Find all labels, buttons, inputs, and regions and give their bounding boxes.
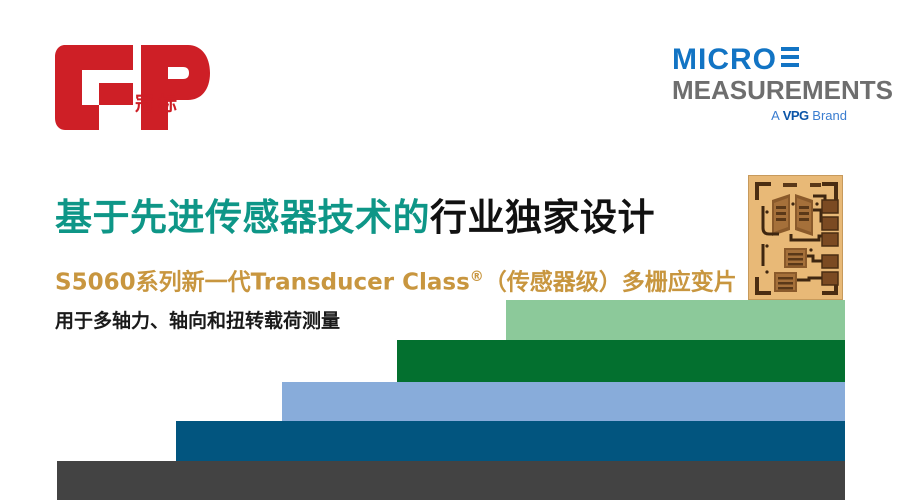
slide-canvas: 冠标 MICRO MEASUREMENTS A VPG Brand 基于先进传感… <box>0 0 900 500</box>
mm-logo-measurements-rest: EASUREMENTS <box>694 75 893 105</box>
strain-gauge-product-photo <box>748 175 843 300</box>
mm-logo-tagline-a: A <box>771 108 779 123</box>
mm-logo-bars-icon <box>781 47 799 71</box>
gp-logo: 冠标 <box>55 45 210 130</box>
bar-light-green <box>506 300 845 340</box>
mm-logo-tagline-brand: Brand <box>812 108 847 123</box>
mm-logo-vpg-tagline: A VPG Brand <box>672 109 847 123</box>
bar-light-blue <box>282 382 845 421</box>
tagline: 用于多轴力、轴向和扭转载荷测量 <box>55 308 340 334</box>
subtitle: S5060系列新一代Transducer Class®（传感器级）多栅应变片 <box>55 262 737 298</box>
mm-logo-tagline-vpg: VPG <box>783 108 809 123</box>
headline-teal-part: 基于先进传感器技术的 <box>55 196 430 239</box>
headline: 基于先进传感器技术的行业独家设计 <box>55 196 655 240</box>
registered-trademark-icon: ® <box>470 269 484 285</box>
gp-logo-chinese-label: 冠标 <box>135 89 181 116</box>
strain-gauge-artwork <box>749 176 843 300</box>
mm-logo-row-micro: MICRO <box>672 45 847 75</box>
subtitle-prefix: S5060系列新一代Transducer Class <box>55 270 470 296</box>
mm-logo-measurements-initial: M <box>672 75 694 105</box>
micro-measurements-logo: MICRO MEASUREMENTS A VPG Brand <box>672 45 847 125</box>
bar-dark-green <box>397 340 845 382</box>
mm-logo-micro-text: MICRO <box>672 45 777 75</box>
gp-logo-mark <box>55 45 210 130</box>
headline-black-part: 行业独家设计 <box>430 196 655 239</box>
bar-dark-blue <box>176 421 845 461</box>
subtitle-suffix: （传感器级）多栅应变片 <box>484 270 737 296</box>
bar-dark-gray <box>57 461 845 500</box>
mm-logo-row-measurements: MEASUREMENTS <box>672 76 847 105</box>
